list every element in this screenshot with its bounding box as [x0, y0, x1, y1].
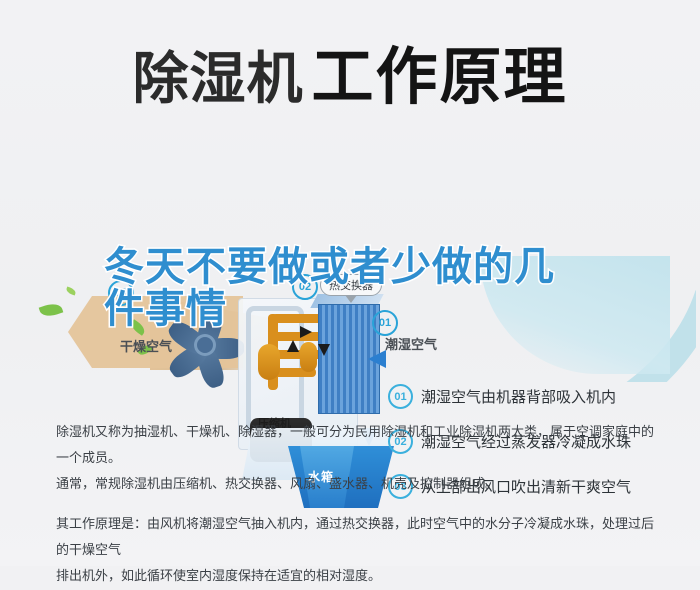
- body-copy: 除湿机又称为抽湿机、干燥机、除湿器，一般可分为民用除湿机和工业除湿机两大类，属于…: [56, 420, 656, 590]
- watermark-overlay: 冬天不要做或者少做的几 件事情: [104, 246, 624, 330]
- humid-air-label: 潮湿空气: [385, 334, 437, 353]
- watermark-line-1: 冬天不要做或者少做的几: [104, 246, 624, 288]
- flow-arrow-down-icon: [318, 344, 330, 356]
- air-intake-arrow-icon: [368, 350, 386, 368]
- watermark-line-2: 件事情: [104, 288, 624, 330]
- paragraph-2-line-2: 排出机外，如此循环使室内湿度保持在适宜的相对湿度。: [56, 564, 656, 590]
- title-part-two: 工作原理: [311, 40, 567, 113]
- step-text: 潮湿空气由机器背部吸入机内: [421, 386, 616, 407]
- paragraph-1-line-2: 通常，常规除湿机由压缩机、热交换器、风扇、盛水器、机壳及控制器组成。: [56, 472, 656, 498]
- list-item: 01 潮湿空气由机器背部吸入机内: [388, 384, 688, 409]
- dry-air-label: 干燥空气: [120, 336, 172, 355]
- page-title: 除湿机工作原理: [0, 26, 700, 116]
- title-part-one: 除湿机: [132, 47, 303, 112]
- copper-cylinder-icon: [258, 344, 280, 380]
- leaf-icon: [39, 301, 64, 319]
- paragraph-2-line-1: 其工作原理是：由风机将潮湿空气抽入机内，通过热交换器，此时空气中的水分子冷凝成水…: [56, 512, 656, 564]
- flow-arrow-up-icon: [287, 340, 299, 352]
- paragraph-1-line-1: 除湿机又称为抽湿机、干燥机、除湿器，一般可分为民用除湿机和工业除湿机两大类，属于…: [56, 420, 656, 472]
- step-badge: 01: [388, 384, 413, 409]
- leaf-icon: [65, 286, 76, 295]
- copper-cylinder-icon: [300, 342, 317, 372]
- paragraph-spacer: [56, 498, 656, 512]
- poster-root: 除湿机工作原理: [0, 0, 700, 566]
